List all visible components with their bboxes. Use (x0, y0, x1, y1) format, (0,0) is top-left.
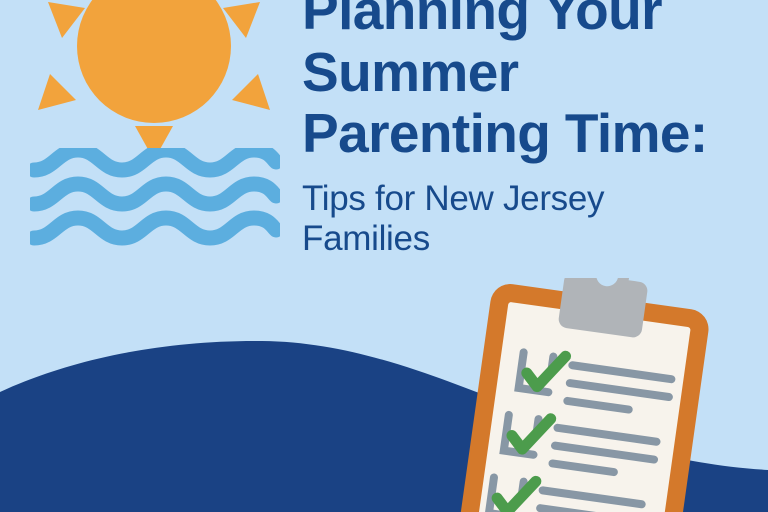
clipboard-checklist-icon (438, 278, 768, 512)
page-title: Planning Your Summer Parenting Time: (302, 0, 754, 165)
page-subtitle: Tips for New Jersey Families (302, 179, 754, 260)
text-block: Planning Your Summer Parenting Time: Tip… (302, 0, 754, 260)
wave-line-3 (34, 218, 276, 238)
wave-line-1 (34, 150, 276, 170)
sun-icon-svg (18, 0, 290, 160)
sun-disc (77, 0, 231, 123)
sun-icon (18, 0, 290, 160)
clipboard-svg (438, 278, 768, 512)
sun-ray-sw (38, 74, 76, 110)
wave-line-2 (34, 184, 276, 204)
water-waves-icon (30, 148, 280, 252)
promo-graphic-canvas: Planning Your Summer Parenting Time: Tip… (0, 0, 768, 512)
water-waves-svg (30, 148, 280, 252)
sun-ray-se (232, 74, 270, 110)
